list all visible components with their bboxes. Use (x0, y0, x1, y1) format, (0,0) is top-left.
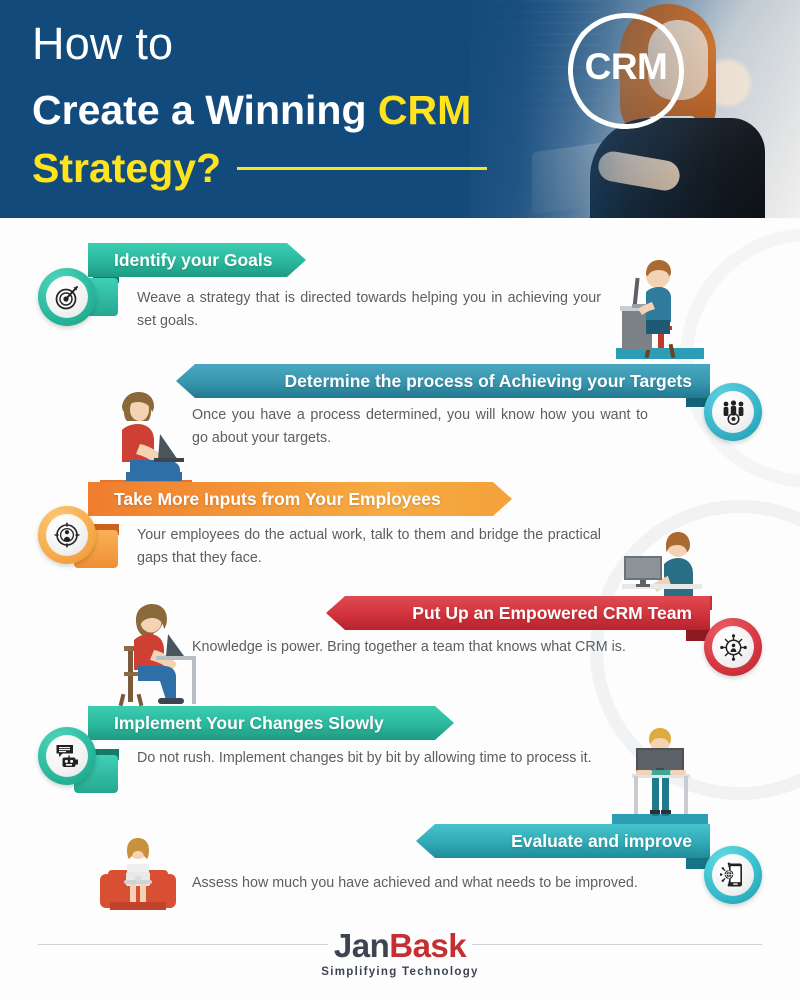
mobile-network-icon (712, 854, 754, 896)
person-at-standing-desk (612, 726, 708, 826)
step-6-ribbon: Evaluate and improve (416, 824, 710, 858)
infographic-page: CRM How to Create a Winning CRM Strategy… (0, 0, 800, 1000)
janbask-logo[interactable]: JanBask Simplifying Technology (0, 927, 800, 978)
step-3-ribbon: Take More Inputs from Your Employees (88, 482, 512, 516)
step-5-ribbon: Implement Your Changes Slowly (88, 706, 454, 740)
logo-word-jan: Jan (334, 927, 389, 964)
man-at-desk-with-laptop (612, 248, 708, 360)
woman-in-red-at-desk (98, 598, 202, 708)
header-banner: CRM How to Create a Winning CRM Strategy… (0, 0, 800, 218)
title-line-1: How to (32, 18, 592, 70)
step-3-badge (38, 506, 96, 564)
step-2-description: Once you have a process determined, you … (192, 404, 648, 450)
title-underline-rule (237, 167, 487, 170)
logo-wordmark: JanBask (0, 927, 800, 965)
title-line-2-plain: Create a Winning (32, 87, 378, 133)
step-3-description: Your employees do the actual work, talk … (137, 524, 601, 570)
step-1-description: Weave a strategy that is directed toward… (137, 287, 601, 333)
people-group-target-icon (712, 391, 754, 433)
step-1-title: Identify your Goals (114, 250, 273, 271)
woman-in-armchair-with-laptop (96, 838, 180, 928)
step-5-badge (38, 727, 96, 785)
step-2-title: Determine the process of Achieving your … (285, 371, 692, 392)
title-line-3-row: Strategy? (32, 144, 592, 193)
step-4-badge (704, 618, 762, 676)
title-line-3: Strategy? (32, 144, 221, 193)
logo-tagline: Simplifying Technology (0, 966, 800, 978)
logo-word-bask: Bask (389, 927, 466, 964)
title-line-2-highlight: CRM (378, 87, 471, 133)
step-4-ribbon: Put Up an Empowered CRM Team (326, 596, 710, 630)
woman-sitting-with-laptop (100, 388, 192, 492)
team-network-icon (712, 626, 754, 668)
step-5-description: Do not rush. Implement changes bit by bi… (137, 747, 601, 770)
step-6-badge (704, 846, 762, 904)
step-6-title: Evaluate and improve (511, 831, 692, 852)
step-5-title: Implement Your Changes Slowly (114, 713, 384, 734)
person-in-target-icon (46, 514, 88, 556)
step-1-badge (38, 268, 96, 326)
title-line-2: Create a Winning CRM (32, 85, 592, 135)
step-6-description: Assess how much you have achieved and wh… (192, 872, 648, 895)
target-dartboard-icon (46, 276, 88, 318)
footer: JanBask Simplifying Technology (0, 922, 800, 1000)
step-1-ribbon: Identify your Goals (88, 243, 306, 277)
step-2-ribbon: Determine the process of Achieving your … (176, 364, 710, 398)
step-2-badge (704, 383, 762, 441)
step-4-title: Put Up an Empowered CRM Team (412, 603, 692, 624)
step-4-description: Knowledge is power. Bring together a tea… (192, 636, 648, 659)
chatbot-message-icon (46, 735, 88, 777)
page-title: How to Create a Winning CRM Strategy? (32, 18, 592, 193)
step-3-title: Take More Inputs from Your Employees (114, 489, 441, 510)
